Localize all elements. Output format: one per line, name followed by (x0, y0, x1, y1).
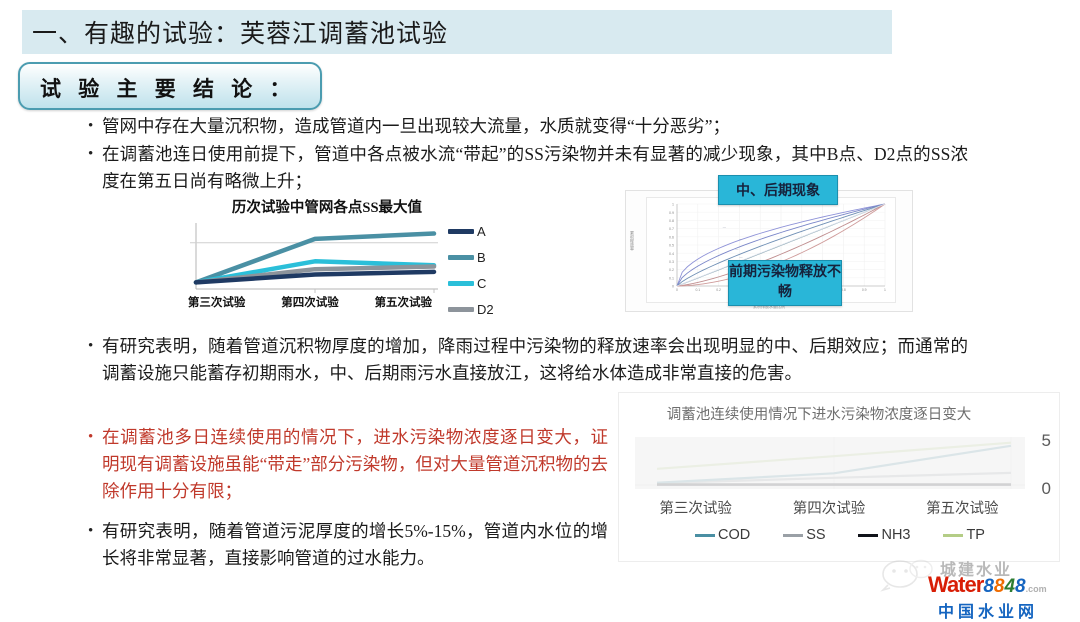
legend-swatch-icon (448, 281, 474, 286)
svg-text:1: 1 (884, 288, 886, 292)
chart-ss-max-legend: A B C D2 (448, 224, 510, 316)
bullet-item-5: • 有研究表明，随着管道污泥厚度的增长5%-15%，管道内水位的增长将非常显著，… (88, 518, 608, 572)
chart-ss-max: 历次试验中管网各点SS最大值 第三次试验 第四次试验 第五次试验 A B C (170, 196, 510, 321)
legend-swatch-icon (943, 534, 963, 537)
watermark-logo-digit-3: 4 (1004, 576, 1015, 597)
x-tick-label: 第三次试验 (188, 294, 246, 310)
legend-entry-nh3: NH3 (858, 527, 910, 543)
svg-text:0.9: 0.9 (862, 288, 867, 292)
svg-text:0.9: 0.9 (669, 211, 674, 215)
watermark-logo: Water8848.com (928, 572, 1047, 598)
legend-label: A (477, 224, 486, 239)
svg-text:0: 0 (672, 285, 674, 289)
y-tick-label-5: 5 (1042, 431, 1051, 451)
bullet-text: 管网中存在大量沉积物，造成管道内一旦出现较大流量，水质就变得“十分恶劣”； (102, 113, 730, 140)
svg-text:0.8: 0.8 (669, 219, 674, 223)
svg-text:0.4: 0.4 (669, 252, 674, 256)
bullet-text: 在调蓄池多日连续使用的情况下，进水污染物浓度逐日变大，证明现有调蓄设施虽能“带走… (102, 424, 608, 505)
legend-label: TP (966, 527, 985, 543)
bullet-text: 有研究表明，随着管道污泥厚度的增长5%-15%，管道内水位的增长将非常显著，直接… (102, 518, 608, 572)
legend-entry-c: C (448, 276, 510, 290)
watermark-logo-word: Water (928, 572, 983, 597)
svg-text:0.7: 0.7 (669, 227, 674, 231)
page-title-banner: 一、有趣的试验：芙蓉江调蓄池试验 (22, 10, 892, 54)
bullet-marker: • (88, 333, 102, 359)
bullet-item-4: • 在调蓄池多日连续使用的情况下，进水污染物浓度逐日变大，证明现有调蓄设施虽能“… (88, 424, 608, 505)
bullet-item-1: • 管网中存在大量沉积物，造成管道内一旦出现较大流量，水质就变得“十分恶劣”； (88, 113, 968, 140)
y-tick-label-0: 0 (1042, 479, 1051, 499)
svg-text:0: 0 (676, 288, 678, 292)
x-tick-label: 第四次试验 (281, 294, 339, 310)
legend-label: SS (806, 527, 825, 543)
bullet-text: 在调蓄池连日使用前提下，管道中各点被水流“带起”的SS污染物并未有显著的减少现象… (102, 141, 968, 195)
legend-label: C (477, 276, 486, 291)
legend-label: D2 (477, 302, 494, 317)
svg-text:0.2: 0.2 (716, 288, 721, 292)
chart-daily-increase: 调蓄池连续使用情况下进水污染物浓度逐日变大 5 0 第三次试验 第四次试验 第五… (618, 392, 1060, 562)
mid-y-axis-label: 累积释放率 (629, 231, 635, 251)
watermark-logo-digit-1: 8 (983, 576, 994, 597)
conclusion-heading-label: 试 验 主 要 结 论 ： (40, 73, 297, 103)
svg-text:0.2: 0.2 (669, 268, 674, 272)
watermark-logo-digit-2: 8 (994, 576, 1005, 597)
bullet-text: 有研究表明，随着管道沉积物厚度的增加，降雨过程中污染物的释放速率会出现明显的中、… (102, 333, 968, 387)
x-tick-label: 第四次试验 (793, 497, 866, 518)
legend-label: B (477, 250, 486, 265)
legend-entry-b: B (448, 250, 510, 264)
bullet-marker: • (88, 113, 102, 139)
svg-text:0.5: 0.5 (669, 244, 674, 248)
svg-text:0.3: 0.3 (669, 260, 674, 264)
chart-ss-max-xaxis: 第三次试验 第四次试验 第五次试验 (170, 294, 450, 310)
legend-swatch-icon (448, 229, 474, 234)
chart-ss-max-plot (178, 221, 438, 293)
page-title: 一、有趣的试验：芙蓉江调蓄池试验 (32, 14, 448, 50)
legend-swatch-icon (783, 534, 803, 537)
watermark-bottom-text: 中国水业网 (938, 598, 1038, 622)
x-tick-label: 第五次试验 (926, 497, 999, 518)
watermark-logo-tld: .com (1026, 584, 1047, 594)
bullet-marker: • (88, 424, 102, 450)
bullet-item-3: • 有研究表明，随着管道沉积物厚度的增加，降雨过程中污染物的释放速率会出现明显的… (88, 333, 968, 387)
watermark-logo-digit-4: 8 (1015, 576, 1026, 597)
chart-ss-max-svg (178, 221, 438, 293)
legend-label: COD (718, 527, 750, 543)
chart-daily-increase-title: 调蓄池连续使用情况下进水污染物浓度逐日变大 (619, 403, 1019, 424)
chart-ss-max-title: 历次试验中管网各点SS最大值 (182, 196, 472, 217)
plot-background (635, 437, 1025, 489)
bullet-marker: • (88, 141, 102, 167)
legend-entry-tp: TP (943, 527, 985, 543)
x-tick-label: 第三次试验 (659, 497, 732, 518)
conclusion-heading-box: 试 验 主 要 结 论 ： (18, 62, 322, 110)
watermark: 城建水业 Water8848.com 中国水业网 (880, 556, 1076, 618)
legend-entry-a: A (448, 224, 510, 238)
legend-label: NH3 (881, 527, 910, 543)
svg-text:0.1: 0.1 (695, 288, 700, 292)
legend-swatch-icon (448, 307, 474, 312)
callout-mid-late-phenomenon: 中、后期现象 (718, 175, 838, 205)
chart-daily-increase-xaxis: 第三次试验 第四次试验 第五次试验 (629, 497, 1029, 518)
legend-entry-d2: D2 (448, 302, 510, 316)
legend-swatch-icon (448, 255, 474, 260)
svg-text:0.6: 0.6 (669, 235, 674, 239)
legend-entry-cod: COD (695, 527, 750, 543)
slide-root: 一、有趣的试验：芙蓉江调蓄池试验 试 验 主 要 结 论 ： • 管网中存在大量… (0, 0, 1080, 621)
svg-text:—: — (723, 226, 727, 230)
legend-swatch-icon (695, 534, 715, 537)
legend-entry-ss: SS (783, 527, 825, 543)
x-tick-label: 第五次试验 (375, 294, 433, 310)
bullet-marker: • (88, 518, 102, 544)
chart-daily-increase-legend: COD SS NH3 TP (695, 527, 985, 543)
chart-daily-increase-plot (635, 437, 1025, 489)
callout-early-release-blocked: 前期污染物释放不畅 (728, 260, 842, 306)
svg-text:0.1: 0.1 (669, 276, 674, 280)
svg-text:—: — (739, 255, 743, 259)
svg-text:1: 1 (672, 203, 674, 207)
legend-swatch-icon (858, 534, 878, 537)
